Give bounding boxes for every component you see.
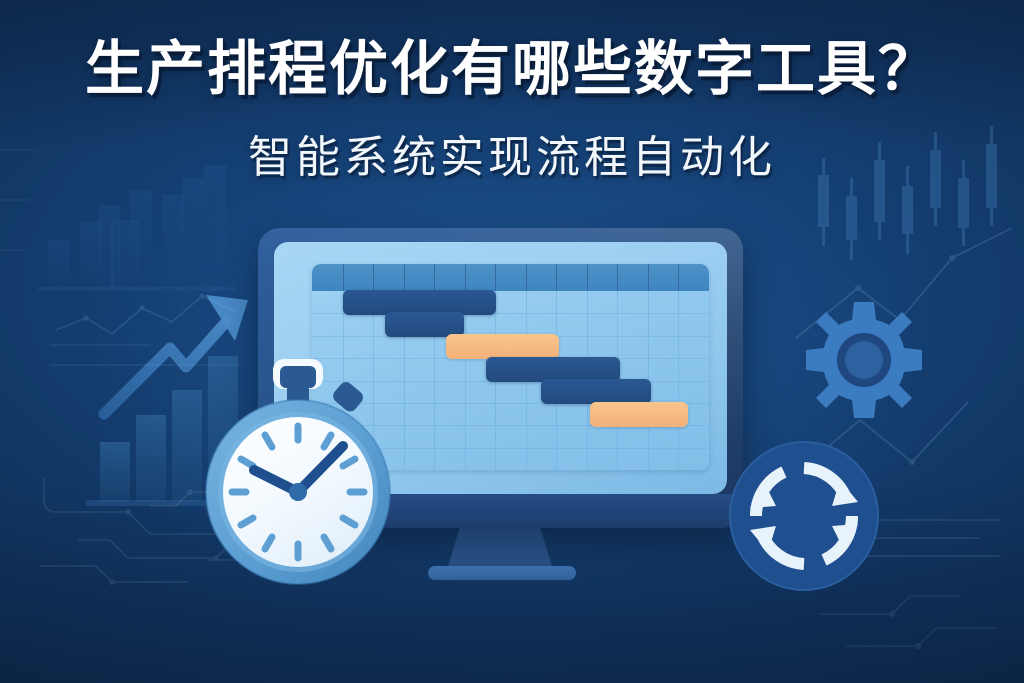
subtitle-text: 智能系统实现流程自动化 (0, 132, 1024, 185)
poster-canvas: 生产排程优化有哪些数字工具？ 智能系统实现流程自动化 (0, 0, 1024, 683)
page-subtitle: 智能系统实现流程自动化 (0, 132, 1024, 185)
text-layer: 生产排程优化有哪些数字工具？ 智能系统实现流程自动化 (0, 0, 1024, 683)
title-text: 生产排程优化有哪些数字工具？ (0, 36, 1024, 102)
page-title: 生产排程优化有哪些数字工具？ (0, 36, 1024, 102)
